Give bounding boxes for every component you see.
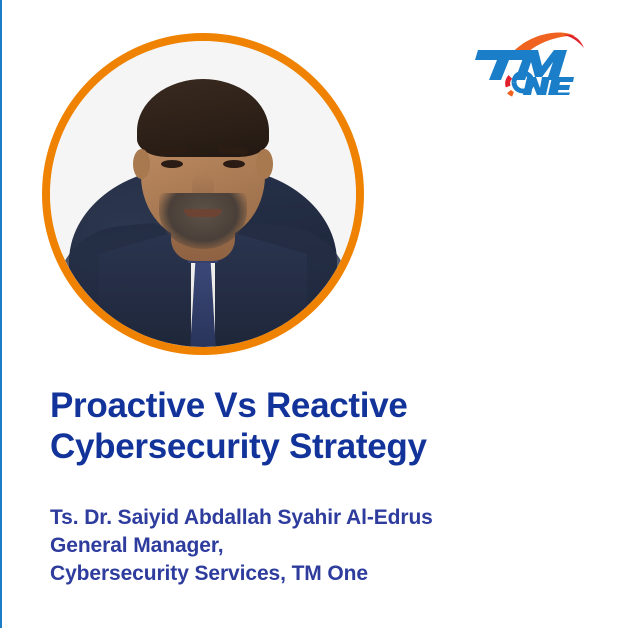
speaker-portrait bbox=[42, 33, 364, 355]
title-line-1: Proactive Vs Reactive bbox=[50, 386, 408, 425]
speaker-role: General Manager, bbox=[50, 532, 590, 560]
mouth bbox=[184, 209, 222, 217]
eye-right bbox=[223, 160, 245, 168]
speaker-name: Ts. Dr. Saiyid Abdallah Syahir Al-Edrus bbox=[50, 504, 590, 532]
page-title: Proactive Vs Reactive Cybersecurity Stra… bbox=[50, 386, 590, 468]
speaker-department: Cybersecurity Services, TM One bbox=[50, 560, 590, 588]
title-line-2: Cybersecurity Strategy bbox=[50, 427, 427, 466]
hair bbox=[137, 79, 269, 157]
ear-left bbox=[133, 149, 150, 179]
portrait-photo bbox=[50, 41, 356, 347]
tm-one-logo bbox=[468, 26, 596, 98]
eye-left bbox=[161, 160, 183, 168]
ear-right bbox=[256, 149, 273, 179]
slide-canvas: Proactive Vs Reactive Cybersecurity Stra… bbox=[0, 0, 628, 628]
speaker-credit: Ts. Dr. Saiyid Abdallah Syahir Al-Edrus … bbox=[50, 504, 590, 588]
